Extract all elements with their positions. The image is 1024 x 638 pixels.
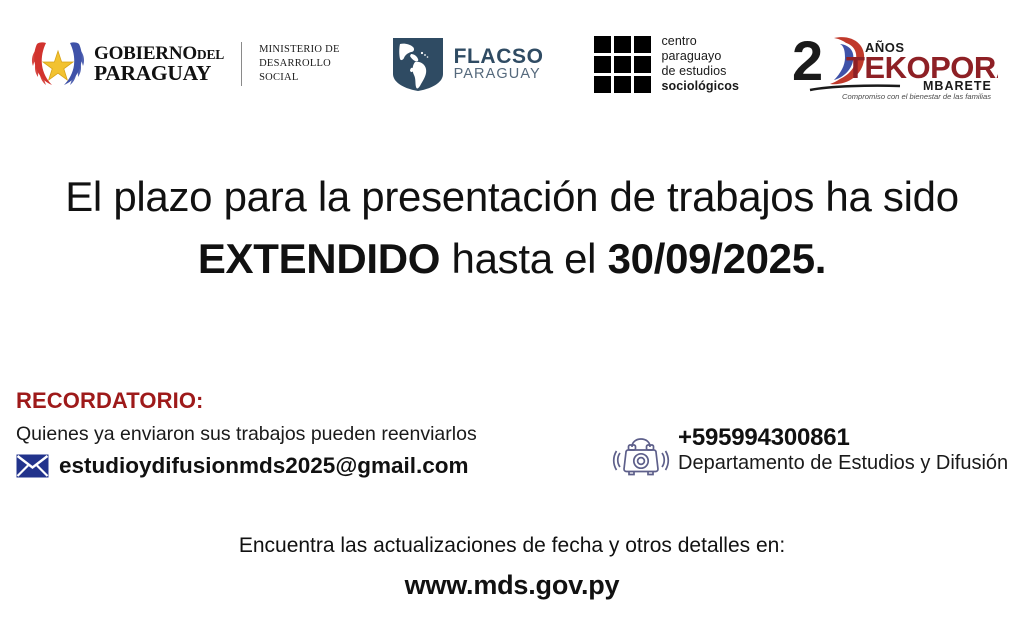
cpes-line-3: de estudios xyxy=(661,64,726,78)
tekopora-mbarete-text: MBARETE xyxy=(923,79,992,93)
logo-tekopora-20-anos: 2 AÑOS TEKOPORÃ MBARETE Compromiso con e… xyxy=(790,28,998,100)
headline-part-1: El plazo para la presentación de trabajo… xyxy=(65,173,959,220)
footer-section: Encuentra las actualizaciones de fecha y… xyxy=(0,534,1024,601)
ringing-telephone-icon xyxy=(612,431,670,483)
ministry-line-3: SOCIAL xyxy=(259,72,298,83)
gobierno-line-2: PARAGUAY xyxy=(94,63,224,83)
paraguay-wreath-star-emblem-icon xyxy=(30,38,86,90)
phone-text-block: +595994300861 Departamento de Estudios y… xyxy=(678,424,1008,475)
logo-gobierno-paraguay: GOBIERNODEL PARAGUAY MINISTERIO DE DESAR… xyxy=(30,38,340,90)
cpes-line-2: paraguayo xyxy=(661,49,721,63)
ministry-line-1: MINISTERIO DE xyxy=(259,44,340,55)
cpes-line-1: centro xyxy=(661,34,696,48)
flacso-subtitle: PARAGUAY xyxy=(454,67,544,82)
phone-contact-block: +595994300861 Departamento de Estudios y… xyxy=(612,424,1008,483)
logo-divider xyxy=(241,42,242,86)
svg-text:2: 2 xyxy=(792,29,823,92)
logo-cpes: centro paraguayo de estudios sociológico… xyxy=(594,34,739,95)
americas-map-shield-icon xyxy=(391,36,445,93)
footer-updates-text: Encuentra las actualizaciones de fecha y… xyxy=(0,534,1024,558)
logo-bar: GOBIERNODEL PARAGUAY MINISTERIO DE DESAR… xyxy=(0,22,1024,106)
cpes-line-4: sociológicos xyxy=(661,79,739,93)
reminder-text: Quienes ya enviaron sus trabajos pueden … xyxy=(16,423,576,446)
contact-department: Departamento de Estudios y Difusión xyxy=(678,451,1008,475)
cpes-wordmark: centro paraguayo de estudios sociológico… xyxy=(661,34,739,95)
contact-phone-number[interactable]: +595994300861 xyxy=(678,424,1008,451)
reminder-email-row[interactable]: estudioydifusionmds2025@gmail.com xyxy=(16,453,576,479)
flacso-wordmark: FLACSO PARAGUAY xyxy=(454,46,544,82)
headline-announcement: El plazo para la presentación de trabajo… xyxy=(0,166,1024,290)
envelope-icon xyxy=(16,454,49,478)
tekopora-tagline-text: Compromiso con el bienestar de las famil… xyxy=(842,92,991,100)
footer-website-url[interactable]: www.mds.gov.py xyxy=(0,570,1024,601)
ministry-wordmark: MINISTERIO DE DESARROLLO SOCIAL xyxy=(259,43,340,85)
ministry-line-2: DESARROLLO xyxy=(259,58,331,69)
logo-flacso-paraguay: FLACSO PARAGUAY xyxy=(391,36,544,93)
contact-email[interactable]: estudioydifusionmds2025@gmail.com xyxy=(59,453,469,479)
headline-part-2: hasta el xyxy=(440,235,607,282)
gobierno-wordmark: GOBIERNODEL PARAGUAY xyxy=(94,45,224,83)
reminder-title: RECORDATORIO: xyxy=(16,388,576,414)
reminder-section: RECORDATORIO: Quienes ya enviaron sus tr… xyxy=(16,388,576,479)
headline-emphasis-extendido: EXTENDIDO xyxy=(198,235,440,282)
flacso-name: FLACSO xyxy=(454,46,544,67)
headline-deadline-date: 30/09/2025. xyxy=(608,235,827,282)
nine-square-grid-icon xyxy=(594,36,651,93)
